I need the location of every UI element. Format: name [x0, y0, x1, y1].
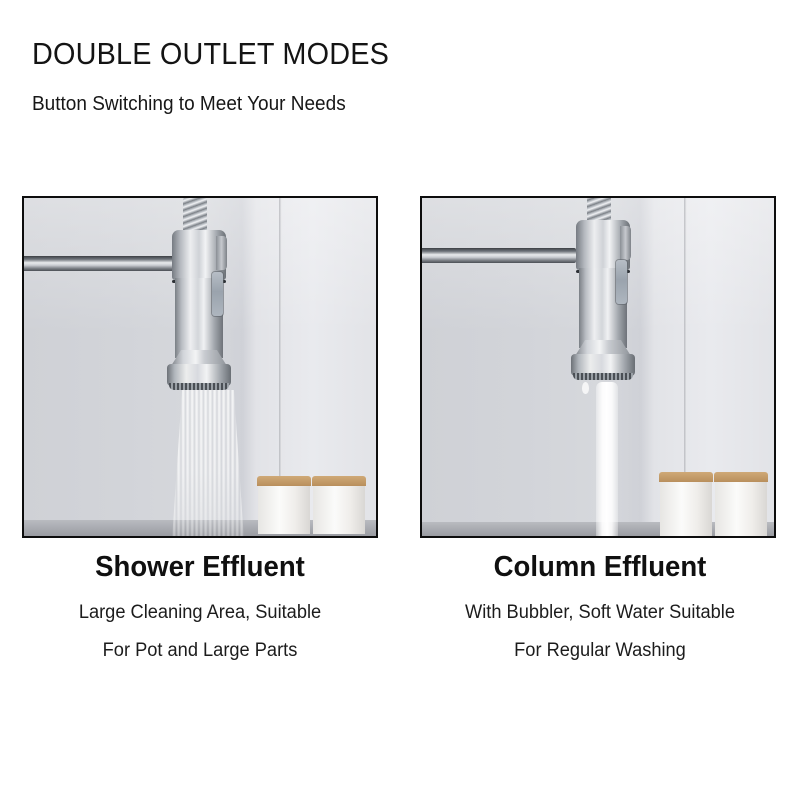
mode-photo-panel-shower [22, 196, 378, 538]
coiled-hose-icon [587, 198, 611, 222]
coiled-hose-icon [183, 198, 207, 232]
page-subtitle: Button Switching to Meet Your Needs [32, 93, 762, 116]
mode-panels [0, 196, 800, 540]
caption-title-column: Column Effluent [420, 552, 781, 584]
nozzle-face [573, 373, 633, 380]
canister-lid [714, 472, 768, 482]
water-drip [582, 382, 589, 394]
faucet-arm [24, 256, 180, 271]
caption-description-line1-shower: Large Cleaning Area, Suitable [18, 602, 383, 624]
mode-switch-button[interactable] [212, 272, 223, 316]
mode-photo-panel-column [420, 196, 776, 538]
mode-switch-button[interactable] [616, 260, 627, 304]
canister-lid [659, 472, 713, 482]
column-stream-water [596, 382, 618, 536]
canister-lid [312, 476, 366, 486]
faucet-column-photo [422, 198, 774, 536]
canister-lid [257, 476, 311, 486]
caption-block-shower: Shower Effluent Large Cleaning Area, Sui… [10, 552, 390, 662]
canister-group [660, 480, 767, 536]
faucet-shower-photo [24, 198, 376, 536]
page-title: DOUBLE OUTLET MODES [32, 38, 746, 71]
caption-description-line1-column: With Bubbler, Soft Water Suitable [418, 602, 783, 624]
caption-title-shower: Shower Effluent [20, 552, 381, 584]
collar-tab [216, 236, 227, 270]
caption-description-line2-column: For Regular Washing [418, 640, 783, 662]
header: DOUBLE OUTLET MODES Button Switching to … [0, 0, 800, 116]
faucet-arm [422, 248, 576, 263]
nozzle-face [169, 383, 229, 390]
canister-group [258, 484, 365, 534]
caption-block-column: Column Effluent With Bubbler, Soft Water… [410, 552, 790, 662]
caption-description-line2-shower: For Pot and Large Parts [18, 640, 383, 662]
canister [715, 480, 767, 536]
canister [258, 484, 310, 534]
canister [313, 484, 365, 534]
shower-spray-water [172, 390, 244, 536]
collar-tab [620, 226, 631, 260]
canister [660, 480, 712, 536]
